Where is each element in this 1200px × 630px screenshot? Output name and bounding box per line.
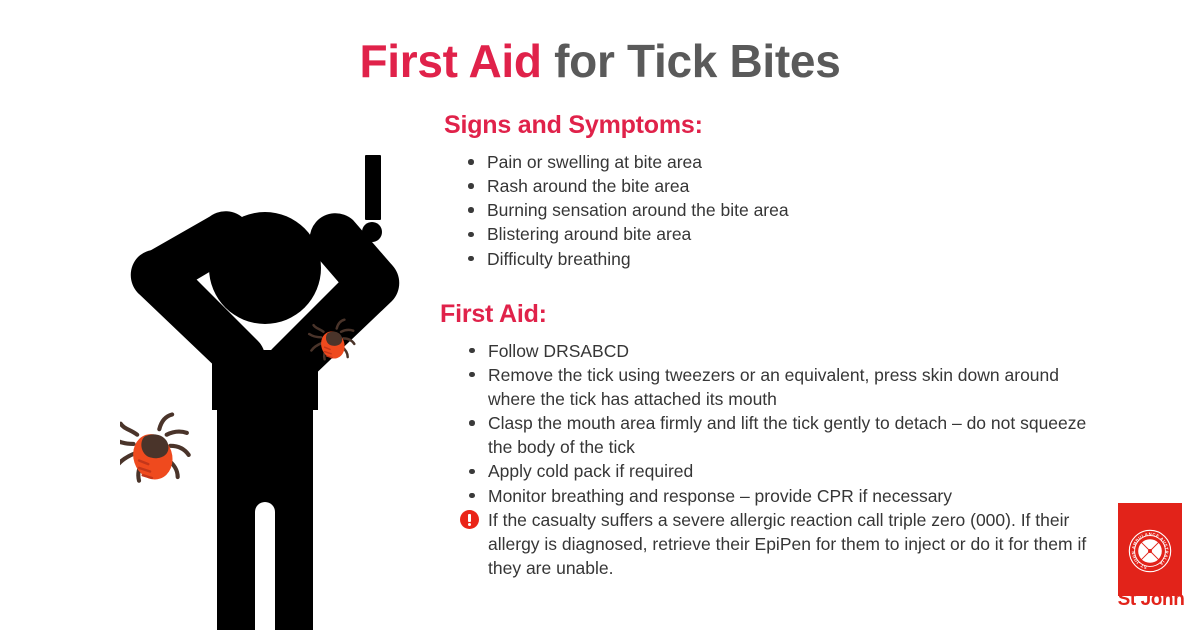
page-title-highlight: First Aid xyxy=(359,35,541,87)
list-item: Rash around the bite area xyxy=(440,174,1100,198)
list-item-text: Burning sensation around the bite area xyxy=(487,200,789,220)
list-item: Apply cold pack if required xyxy=(440,459,1100,483)
warning-exclamation-icon xyxy=(460,510,479,529)
heading-signs-and-symptoms: Signs and Symptoms: xyxy=(444,110,1100,140)
tick-bite-illustration xyxy=(120,145,410,630)
bullet-dot-icon xyxy=(468,256,474,262)
list-item: Burning sensation around the bite area xyxy=(440,198,1100,222)
first-aid-list: Follow DRSABCD Remove the tick using twe… xyxy=(440,339,1100,580)
tick-on-leg-icon xyxy=(120,414,189,484)
bullet-dot-icon xyxy=(468,207,474,213)
list-item-text: Apply cold pack if required xyxy=(488,461,693,481)
list-item-text: Clasp the mouth area firmly and lift the… xyxy=(488,413,1086,457)
st-john-ambulance-logo: ST JOHN AMBULANCE AUSTRALIA St John xyxy=(1110,500,1192,620)
bullet-dot-icon xyxy=(468,159,474,165)
signs-and-symptoms-list: Pain or swelling at bite area Rash aroun… xyxy=(440,150,1100,271)
list-item-text: Pain or swelling at bite area xyxy=(487,152,702,172)
exclamation-mark-icon xyxy=(362,155,382,242)
bullet-dot-icon xyxy=(468,232,474,238)
bullet-dot-icon xyxy=(469,493,475,499)
list-item: Pain or swelling at bite area xyxy=(440,150,1100,174)
heading-first-aid: First Aid: xyxy=(440,299,1100,329)
content-column: Signs and Symptoms: Pain or swelling at … xyxy=(440,110,1100,580)
bullet-dot-icon xyxy=(469,348,475,354)
bullet-dot-icon xyxy=(469,469,475,475)
list-item: Monitor breathing and response – provide… xyxy=(440,484,1100,508)
list-item-warning: If the casualty suffers a severe allergi… xyxy=(440,508,1100,580)
page-title-rest: for Tick Bites xyxy=(542,35,841,87)
list-item: Difficulty breathing xyxy=(440,247,1100,271)
list-item: Follow DRSABCD xyxy=(440,339,1100,363)
list-item-text: Rash around the bite area xyxy=(487,176,689,196)
maltese-cross-icon: ST JOHN AMBULANCE AUSTRALIA xyxy=(1128,529,1172,573)
list-item-text: Monitor breathing and response – provide… xyxy=(488,486,952,506)
list-item: Remove the tick using tweezers or an equ… xyxy=(440,363,1100,411)
page-title: First Aid for Tick Bites xyxy=(0,36,1200,87)
person-hands-on-head-icon xyxy=(131,211,399,630)
bullet-dot-icon xyxy=(469,420,475,426)
list-item: Blistering around bite area xyxy=(440,222,1100,246)
logo-wordmark: St John xyxy=(1112,590,1190,609)
bullet-dot-icon xyxy=(469,372,475,378)
list-item-text: If the casualty suffers a severe allergi… xyxy=(488,510,1086,578)
list-item: Clasp the mouth area firmly and lift the… xyxy=(440,411,1100,459)
list-item-text: Difficulty breathing xyxy=(487,249,631,269)
bullet-dot-icon xyxy=(468,183,474,189)
list-item-text: Remove the tick using tweezers or an equ… xyxy=(488,365,1059,409)
list-item-text: Blistering around bite area xyxy=(487,224,691,244)
list-item-text: Follow DRSABCD xyxy=(488,341,629,361)
